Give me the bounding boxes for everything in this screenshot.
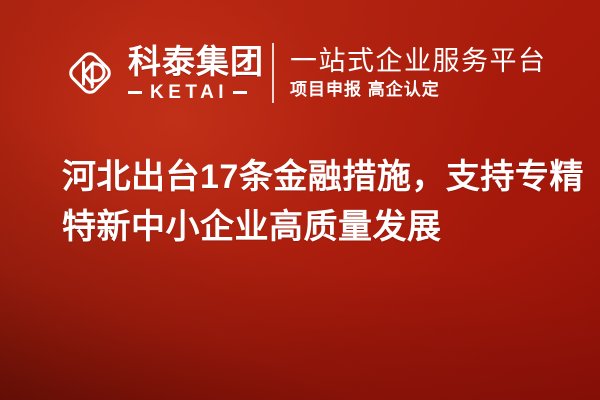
- logo-wordmark: 科泰集团 KETAI: [128, 44, 264, 102]
- dash-icon: [128, 91, 142, 94]
- headline: 河北出台17条金融措施，支持专精 特新中小企业高质量发展: [62, 152, 578, 252]
- logo-en-row: KETAI: [128, 83, 264, 102]
- headline-line-2: 特新中小企业高质量发展: [62, 202, 578, 252]
- tagline-sub: 项目申报 高企认定: [290, 81, 547, 100]
- tagline-main: 一站式企业服务平台: [290, 46, 547, 76]
- brand-logo[interactable]: 科泰集团 KETAI: [62, 40, 264, 106]
- vertical-divider-icon: [272, 43, 274, 103]
- ketai-diamond-kp-monogram-icon: [62, 45, 118, 101]
- logo-company-name-en: KETAI: [148, 83, 228, 102]
- logo-company-name-cn: 科泰集团: [128, 45, 264, 78]
- dash-icon: [233, 91, 247, 94]
- promo-banner: 科泰集团 KETAI 一站式企业服务平台 项目申报 高企认定 河北出台17条金融…: [0, 0, 600, 400]
- banner-header: 科泰集团 KETAI 一站式企业服务平台 项目申报 高企认定: [62, 40, 562, 106]
- headline-line-1: 河北出台17条金融措施，支持专精: [62, 152, 578, 202]
- tagline-block: 一站式企业服务平台 项目申报 高企认定: [290, 41, 547, 105]
